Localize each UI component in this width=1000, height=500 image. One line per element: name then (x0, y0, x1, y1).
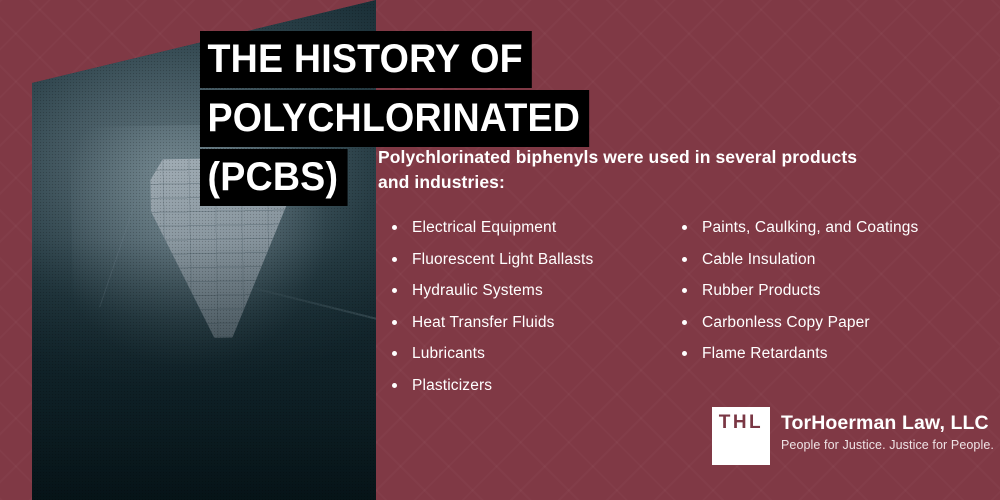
list-item: Plasticizers (378, 370, 668, 402)
page-title: THE HISTORY OF POLYCHLORINATED (PCBS) (200, 31, 614, 206)
brand-logo[interactable]: THL TorHoerman Law, LLC People for Justi… (712, 407, 994, 465)
product-lists: Electrical Equipment Fluorescent Light B… (378, 212, 1000, 401)
list-item: Carbonless Copy Paper (668, 307, 968, 339)
logo-mark-thl: THL (712, 407, 770, 465)
list-item: Hydraulic Systems (378, 275, 668, 307)
title-line-1: THE HISTORY OF (200, 31, 532, 88)
list-item: Heat Transfer Fluids (378, 307, 668, 339)
logo-text-block: TorHoerman Law, LLC People for Justice. … (781, 407, 994, 455)
logo-mark-text: THL (719, 413, 763, 432)
firm-tagline: People for Justice. Justice for People. (781, 437, 994, 455)
title-line-2: POLYCHLORINATED (200, 90, 589, 147)
list-item: Lubricants (378, 338, 668, 370)
list-item: Rubber Products (668, 275, 968, 307)
list-item: Flame Retardants (668, 338, 968, 370)
title-line-3: (PCBS) (200, 149, 348, 206)
firm-name: TorHoerman Law, LLC (781, 412, 994, 434)
product-list-right: Paints, Caulking, and Coatings Cable Ins… (668, 212, 968, 401)
list-item: Electrical Equipment (378, 212, 668, 244)
product-list-left: Electrical Equipment Fluorescent Light B… (378, 212, 668, 401)
list-item: Paints, Caulking, and Coatings (668, 212, 968, 244)
list-item: Cable Insulation (668, 244, 968, 276)
list-item: Fluorescent Light Ballasts (378, 244, 668, 276)
